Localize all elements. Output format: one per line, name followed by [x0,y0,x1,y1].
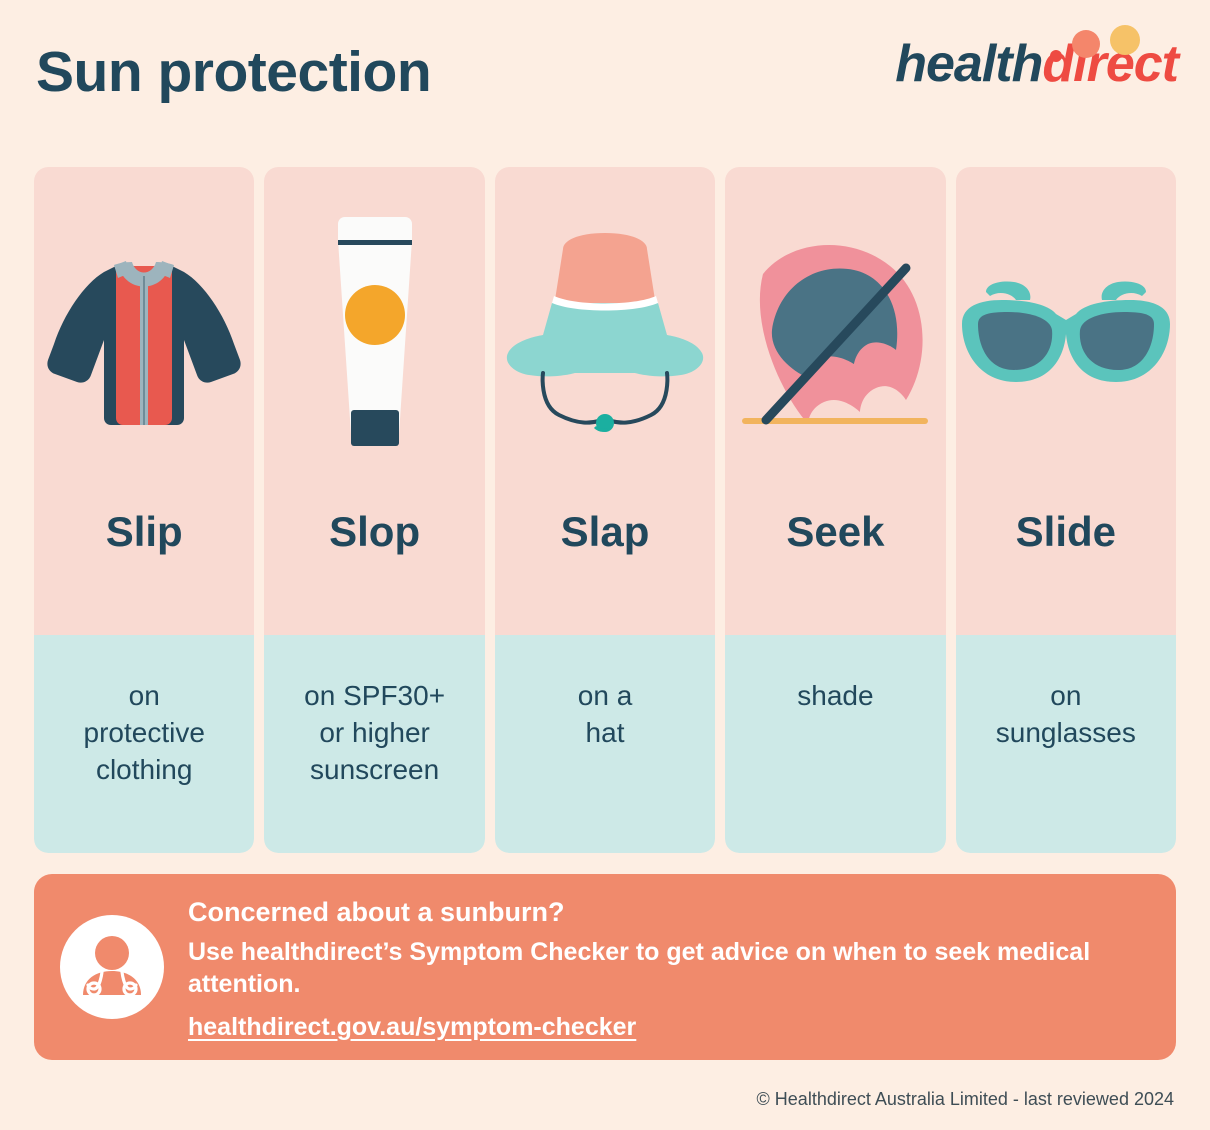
step-caption-panel: shade [725,635,945,853]
step-caption: on protective clothing [84,677,205,789]
long-sleeve-shirt-icon [34,167,254,507]
step-word: Seek [786,511,884,553]
step-caption: on SPF30+ or higher sunscreen [304,677,445,789]
step-icon-panel: Slop [264,167,484,635]
page-title: Sun protection [36,44,431,101]
step-caption-panel: on sunglasses [956,635,1176,853]
step-column-slip: Slip on protective clothing [34,167,254,853]
step-icon-panel: Seek [725,167,945,635]
banner-description: Use healthdirect’s Symptom Checker to ge… [188,936,1138,1001]
step-word: Slap [561,511,650,553]
bucket-hat-icon [495,167,715,507]
symptom-checker-link[interactable]: healthdirect.gov.au/symptom-checker [188,1013,636,1042]
copyright-footer: © Healthdirect Australia Limited - last … [757,1089,1174,1110]
step-word: Slip [106,511,183,553]
logo-text-health: health [895,35,1042,93]
step-caption-panel: on a hat [495,635,715,853]
step-caption: on sunglasses [996,677,1136,751]
symptom-checker-banner[interactable]: Concerned about a sunburn? Use healthdir… [34,874,1176,1060]
step-caption: on a hat [578,677,633,751]
header: Sun protection healthdirect [0,0,1210,150]
step-icon-panel: Slip [34,167,254,635]
logo-dot-red-icon [1050,50,1062,62]
banner-body: Concerned about a sunburn? Use healthdir… [188,892,1150,1041]
step-word: Slide [1016,511,1116,553]
step-icon-panel: Slap [495,167,715,635]
step-caption-panel: on SPF30+ or higher sunscreen [264,635,484,853]
sun-protection-steps: Slip on protective clothing Slop [34,167,1176,853]
banner-title: Concerned about a sunburn? [188,896,1150,928]
step-word: Slop [329,511,420,553]
step-column-slide: Slide on sunglasses [956,167,1176,853]
sunglasses-icon [956,167,1176,507]
step-column-slap: Slap on a hat [495,167,715,853]
beach-umbrella-icon [725,167,945,507]
step-caption: shade [797,677,873,714]
logo-dot-amber-icon [1110,25,1140,55]
step-icon-panel: Slide [956,167,1176,635]
infographic-page: Sun protection healthdirect [0,0,1210,1130]
step-caption-panel: on protective clothing [34,635,254,853]
doctor-avatar-icon [60,915,164,1019]
step-column-slop: Slop on SPF30+ or higher sunscreen [264,167,484,853]
sunscreen-tube-icon [264,167,484,507]
logo-dot-coral-icon [1072,30,1100,58]
healthdirect-logo: healthdirect [895,38,1178,114]
step-column-seek: Seek shade [725,167,945,853]
